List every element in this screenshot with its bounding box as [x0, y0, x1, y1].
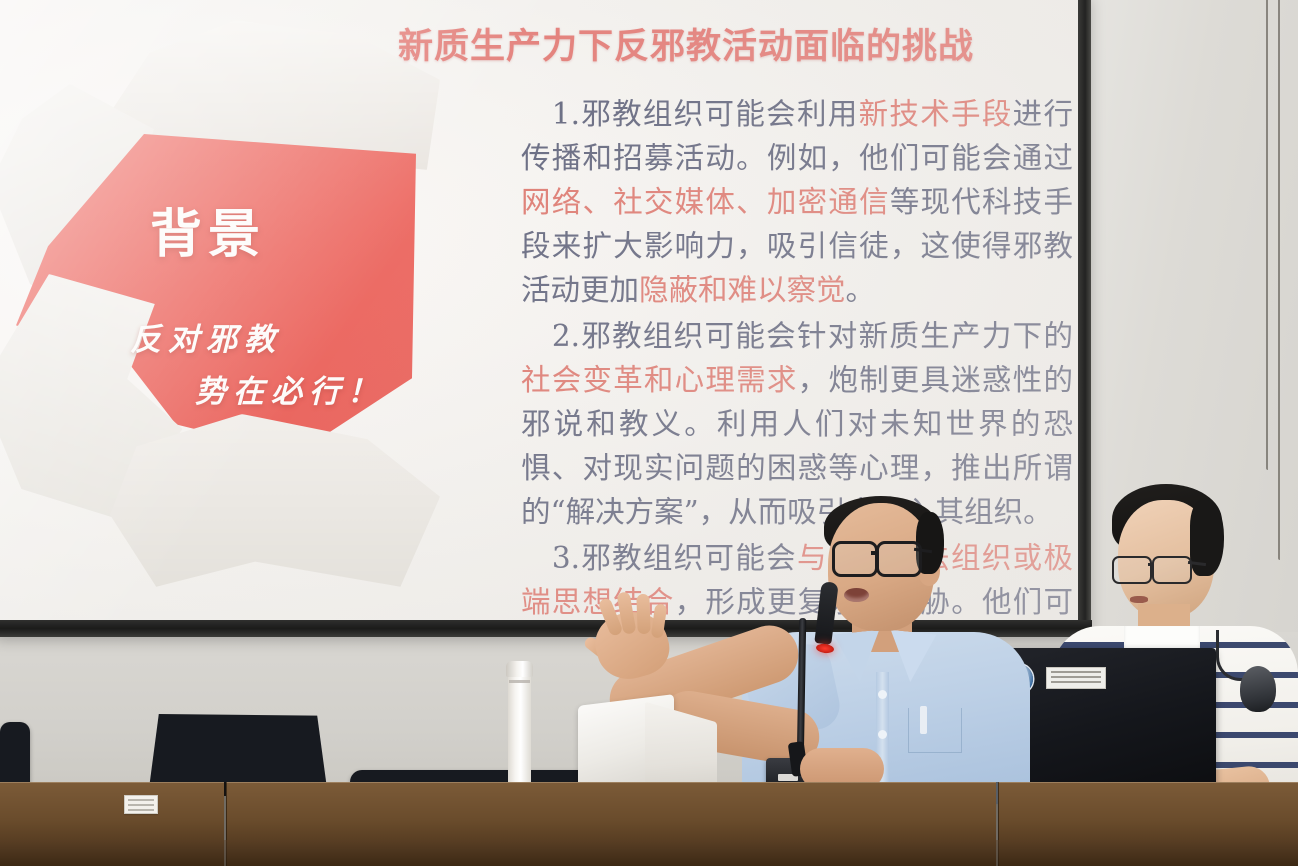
desk-asset-label: [124, 795, 158, 814]
torn-paper-piece-bottom: [110, 414, 440, 594]
desk-front-shadow: [0, 840, 1298, 866]
assistant-glasses-right-lens: [1152, 556, 1192, 584]
slide-body-text: 1.邪教组织可能会利用新技术手段进行传播和招募活动。例如，他们可能会通过网络、社…: [521, 92, 1073, 622]
highlighted-text: 新技术手段: [859, 97, 1013, 131]
thermos-bottle: [508, 672, 531, 790]
screen-bezel-right: [1078, 0, 1091, 636]
hanging-cable-1: [1278, 0, 1280, 560]
paragraph-number: 3.: [521, 541, 580, 575]
art-slogan-line-1: 反对邪教: [130, 314, 282, 359]
torn-paper-artwork: 背景 反对邪教 势在必行！: [0, 14, 490, 594]
body-text: 邪教组织可能会利用: [580, 97, 859, 131]
art-slogan-line-2: 势在必行！: [195, 366, 385, 411]
slide-paragraph: 2.邪教组织可能会针对新质生产力下的社会变革和心理需求，炮制更具迷惑性的邪说和教…: [521, 314, 1073, 534]
highlighted-text: 网络、社交媒体、加密通信: [521, 185, 890, 219]
body-text: 邪教组织可能会针对新质生产力下的: [580, 319, 1073, 353]
thermos-cap: [506, 661, 533, 677]
computer-mouse: [1240, 666, 1276, 712]
assistant-mouth: [1130, 596, 1148, 603]
body-text: 。: [846, 273, 876, 307]
speaker-shirt-pocket: [908, 708, 962, 753]
speaker-glasses-left-lens: [832, 541, 878, 577]
speaker-shirt-button-1: [878, 690, 887, 699]
body-text: 邪教组织可能会: [580, 541, 797, 575]
paper-layer: [0, 14, 490, 594]
speaker-finger-3: [636, 594, 650, 634]
lecture-photo-scene: 背景 反对邪教 势在必行！ 新质生产力下反邪教活动面临的挑战 1.邪教组织可能会…: [0, 0, 1298, 866]
art-heading: 背景: [150, 192, 266, 267]
thermos-band: [509, 680, 530, 683]
assistant-glasses-left-lens: [1112, 556, 1152, 584]
speaker-mouth: [844, 588, 869, 602]
hanging-cable-2: [1266, 0, 1268, 470]
paragraph-number: 2.: [521, 319, 580, 353]
speaker-shirt-button-2: [878, 730, 887, 739]
speaker-glasses-bridge: [871, 551, 879, 555]
speaker-pocket-pen: [920, 706, 927, 734]
slide-paragraph: 1.邪教组织可能会利用新技术手段进行传播和招募活动。例如，他们可能会通过网络、社…: [521, 92, 1073, 312]
highlighted-text: 隐蔽和难以察觉: [639, 273, 846, 307]
paragraph-number: 1.: [521, 97, 580, 131]
assistant-glasses-bridge: [1148, 563, 1154, 566]
laptop-asset-label: [1046, 667, 1106, 689]
slide-title: 新质生产力下反邪教活动面临的挑战: [398, 18, 1068, 69]
assistant-hair-side: [1190, 500, 1224, 576]
highlighted-text: 社会变革和心理需求: [521, 363, 798, 397]
speaker-glasses-right-lens: [876, 541, 922, 577]
